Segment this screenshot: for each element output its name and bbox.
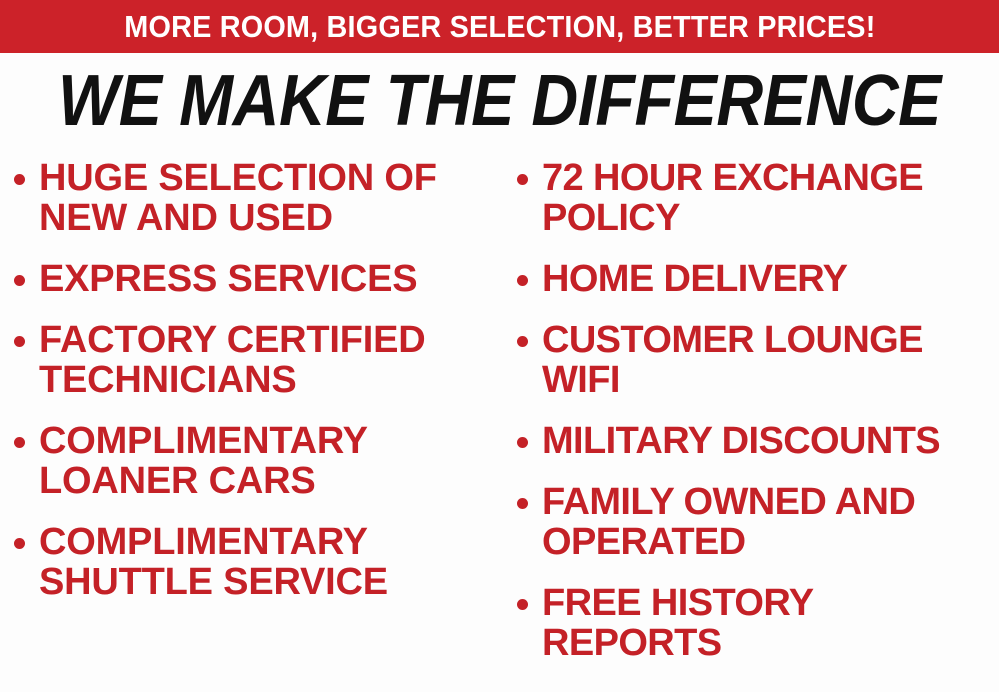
feature-item: FREE HISTORY REPORTS bbox=[517, 583, 999, 663]
bullet-dot-icon bbox=[14, 538, 25, 549]
feature-item: CUSTOMER LOUNGE WIFI bbox=[517, 320, 999, 400]
feature-item-label: COMPLIMENTARY SHUTTLE SERVICE bbox=[39, 522, 496, 602]
bullet-dot-icon bbox=[517, 174, 528, 185]
promo-banner-text: MORE ROOM, BIGGER SELECTION, BETTER PRIC… bbox=[124, 11, 875, 42]
feature-item-label: HOME DELIVERY bbox=[542, 259, 999, 299]
headline-title: WE MAKE THE DIFFERENCE bbox=[50, 63, 949, 139]
feature-item-label: FREE HISTORY REPORTS bbox=[542, 583, 999, 663]
feature-item: HUGE SELECTION OF NEW AND USED bbox=[14, 158, 496, 238]
advertisement-banner: MORE ROOM, BIGGER SELECTION, BETTER PRIC… bbox=[0, 0, 999, 692]
bullet-dot-icon bbox=[517, 437, 528, 448]
bullet-dot-icon bbox=[517, 498, 528, 509]
feature-column-right: 72 HOUR EXCHANGE POLICY HOME DELIVERY CU… bbox=[517, 158, 999, 684]
feature-item: FACTORY CERTIFIED TECHNICIANS bbox=[14, 320, 496, 400]
feature-item: COMPLIMENTARY LOANER CARS bbox=[14, 421, 496, 501]
feature-item: COMPLIMENTARY SHUTTLE SERVICE bbox=[14, 522, 496, 602]
feature-columns: HUGE SELECTION OF NEW AND USED EXPRESS S… bbox=[0, 158, 999, 692]
bullet-dot-icon bbox=[14, 437, 25, 448]
bullet-dot-icon bbox=[517, 336, 528, 347]
feature-item-label: CUSTOMER LOUNGE WIFI bbox=[542, 320, 999, 400]
feature-item: MILITARY DISCOUNTS bbox=[517, 421, 999, 461]
feature-item-label: FAMILY OWNED AND OPERATED bbox=[542, 482, 999, 562]
promo-banner: MORE ROOM, BIGGER SELECTION, BETTER PRIC… bbox=[0, 0, 999, 53]
feature-item: FAMILY OWNED AND OPERATED bbox=[517, 482, 999, 562]
bullet-dot-icon bbox=[14, 174, 25, 185]
feature-item: EXPRESS SERVICES bbox=[14, 259, 496, 299]
bullet-dot-icon bbox=[517, 275, 528, 286]
feature-item-label: FACTORY CERTIFIED TECHNICIANS bbox=[39, 320, 496, 400]
feature-item-label: 72 HOUR EXCHANGE POLICY bbox=[542, 158, 999, 238]
feature-item-label: MILITARY DISCOUNTS bbox=[542, 421, 999, 461]
bullet-dot-icon bbox=[14, 275, 25, 286]
bullet-dot-icon bbox=[517, 599, 528, 610]
feature-item: HOME DELIVERY bbox=[517, 259, 999, 299]
feature-item-label: HUGE SELECTION OF NEW AND USED bbox=[39, 158, 496, 238]
feature-column-left: HUGE SELECTION OF NEW AND USED EXPRESS S… bbox=[14, 158, 496, 623]
feature-item-label: EXPRESS SERVICES bbox=[39, 259, 496, 299]
feature-item-label: COMPLIMENTARY LOANER CARS bbox=[39, 421, 496, 501]
bullet-dot-icon bbox=[14, 336, 25, 347]
feature-item: 72 HOUR EXCHANGE POLICY bbox=[517, 158, 999, 238]
